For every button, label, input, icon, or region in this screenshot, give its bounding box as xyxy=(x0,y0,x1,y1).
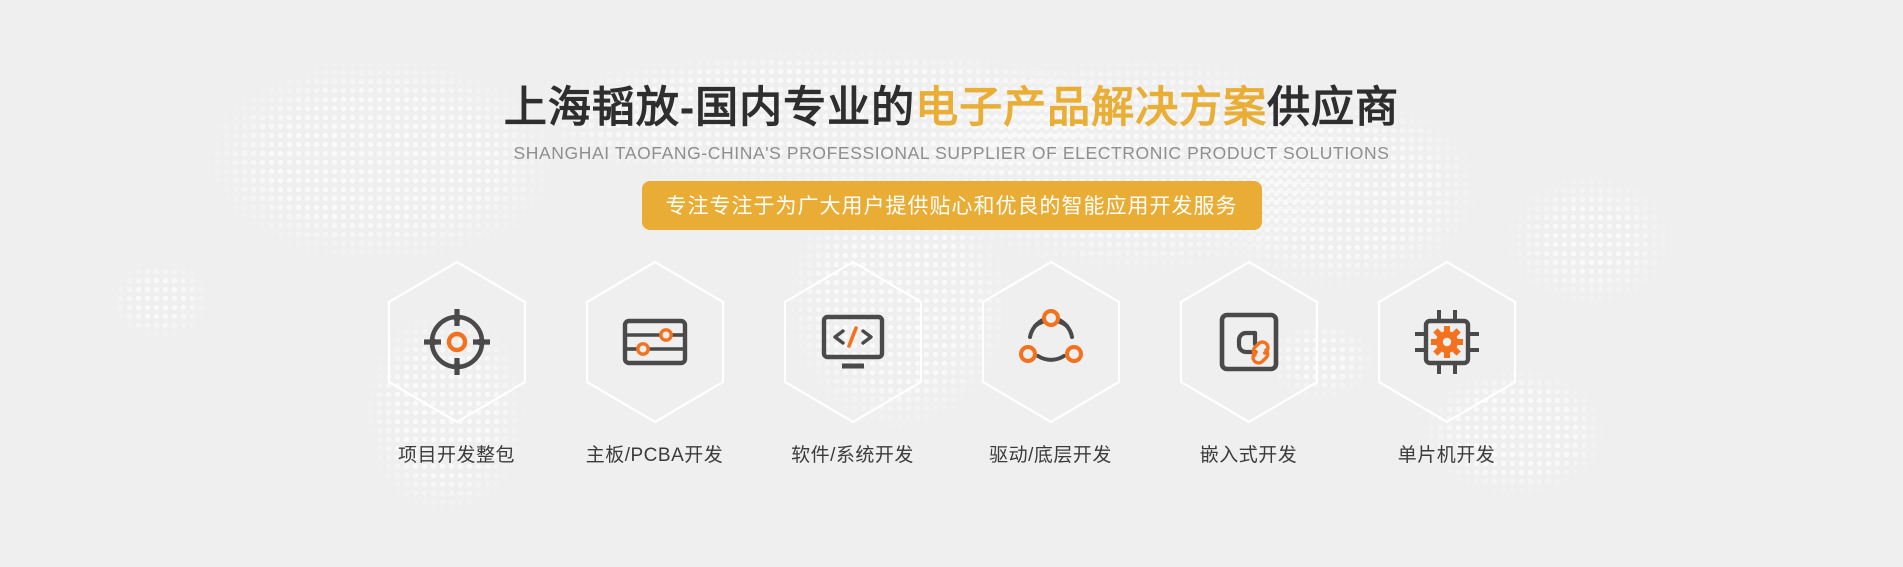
chip-link-icon xyxy=(1211,304,1287,380)
hero-banner: 上海韬放-国内专业的电子产品解决方案供应商 SHANGHAI TAOFANG-C… xyxy=(0,0,1903,567)
tagline-badge-wrap: 专注专注于为广大用户提供贴心和优良的智能应用开发服务 xyxy=(0,181,1903,230)
title-segment-highlight: 电子产品解决方案 xyxy=(915,84,1267,132)
headline-block: 上海韬放-国内专业的电子产品解决方案供应商 SHANGHAI TAOFANG-C… xyxy=(0,82,1903,230)
tagline-badge: 专注专注于为广大用户提供贴心和优良的智能应用开发服务 xyxy=(642,181,1262,230)
circuit-board-icon xyxy=(617,304,693,380)
crosshair-target-icon xyxy=(419,304,495,380)
hexagon-frame xyxy=(1175,258,1323,426)
hexagon-frame xyxy=(383,258,531,426)
microchip-gear-icon xyxy=(1409,304,1485,380)
title-segment-1: 上海韬放-国内专业的 xyxy=(504,84,915,132)
service-label: 主板/PCBA开发 xyxy=(586,440,724,467)
service-list: 项目开发整包 xyxy=(0,258,1903,467)
node-network-icon xyxy=(1013,304,1089,380)
hexagon-frame xyxy=(977,258,1125,426)
service-item-pcba[interactable]: 主板/PCBA开发 xyxy=(575,258,735,467)
service-label: 驱动/底层开发 xyxy=(989,440,1112,467)
service-label: 项目开发整包 xyxy=(398,440,515,467)
service-item-project-package[interactable]: 项目开发整包 xyxy=(377,258,537,467)
page-subtitle: SHANGHAI TAOFANG-CHINA'S PROFESSIONAL SU… xyxy=(0,143,1903,164)
service-item-software[interactable]: 软件/系统开发 xyxy=(773,258,933,467)
hexagon-frame xyxy=(1373,258,1521,426)
service-label: 软件/系统开发 xyxy=(791,440,914,467)
hexagon-frame xyxy=(779,258,927,426)
service-item-driver[interactable]: 驱动/底层开发 xyxy=(971,258,1131,467)
page-title: 上海韬放-国内专业的电子产品解决方案供应商 xyxy=(0,82,1903,134)
service-item-embedded[interactable]: 嵌入式开发 xyxy=(1169,258,1329,467)
monitor-code-icon xyxy=(815,304,891,380)
hexagon-frame xyxy=(581,258,729,426)
service-label: 单片机开发 xyxy=(1398,440,1496,467)
title-segment-3: 供应商 xyxy=(1267,84,1399,132)
service-label: 嵌入式开发 xyxy=(1200,440,1298,467)
service-item-mcu[interactable]: 单片机开发 xyxy=(1367,258,1527,467)
